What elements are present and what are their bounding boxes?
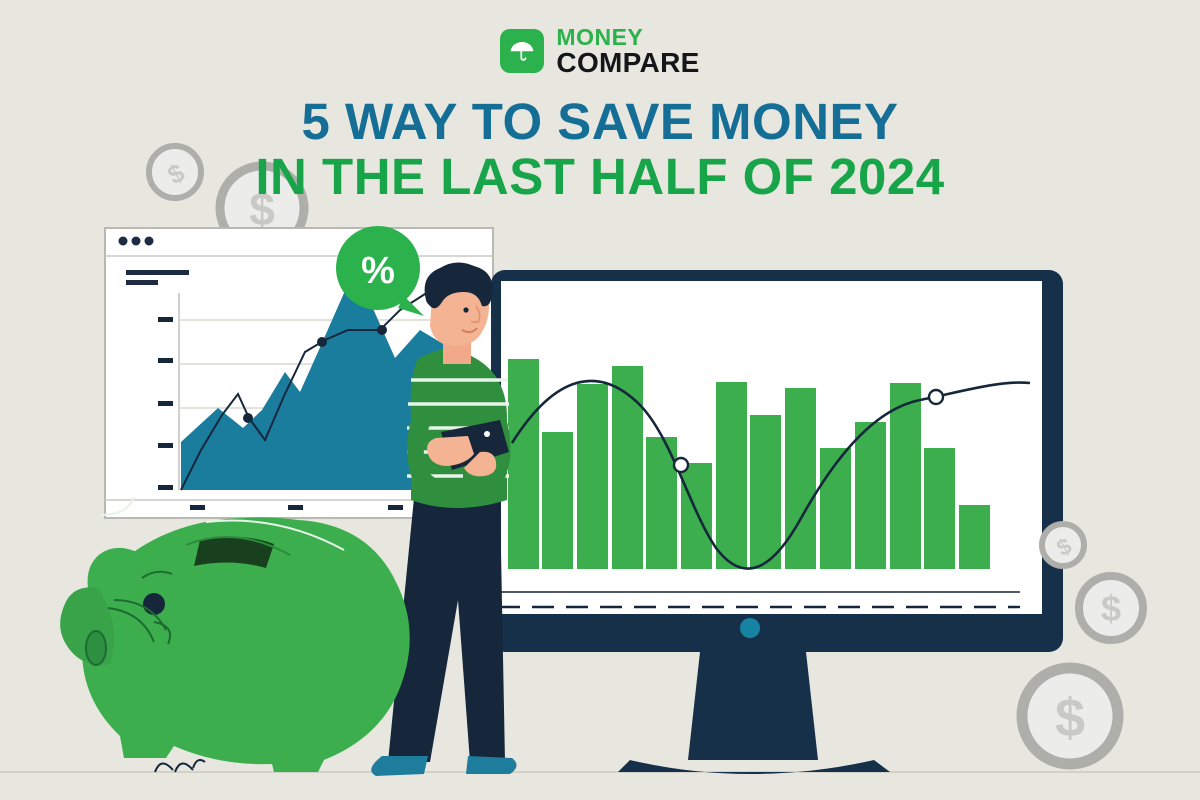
bar-9 [785,388,816,569]
bar-2 [542,432,573,569]
coin-xlarge-right: $ [1022,668,1118,764]
bar-14 [959,505,990,569]
power-dot-icon[interactable] [740,618,760,638]
character-eye [463,307,468,312]
svg-text:$: $ [1055,688,1085,748]
brand-logo[interactable]: MONEY COMPARE [0,26,1200,76]
wave-marker-2 [929,390,943,404]
placeholder-title-bar [126,270,189,275]
bar-6 [681,463,712,569]
headline: 5 WAY TO SAVE MONEY IN THE LAST HALF OF … [0,96,1200,203]
bar-1 [508,359,539,569]
bar-13 [924,448,955,569]
logo-money-text: MONEY [556,26,699,49]
bar-7 [716,382,747,569]
bar-3 [577,384,608,569]
coin-medium-right: $ [1079,576,1143,640]
bar-11 [855,422,886,569]
umbrella-icon [500,29,544,73]
logo-compare-text: COMPARE [556,49,699,76]
bubble-percent-label: % [361,250,395,292]
bar-12 [890,383,921,569]
line-marker-2 [317,337,327,347]
bar-8 [750,415,781,569]
wave-marker-1 [674,458,688,472]
line-marker-3 [377,325,387,335]
headline-line-2: IN THE LAST HALF OF 2024 [0,151,1200,203]
headline-line-1: 5 WAY TO SAVE MONEY [0,96,1200,148]
character-shoe-right [466,756,517,774]
coin-small-right: $ [1042,524,1084,566]
tablet-camera-icon [484,431,490,437]
illustration-canvas: $ $ [0,0,1200,800]
window-dot-2[interactable] [132,237,141,246]
bar-4 [612,366,643,569]
placeholder-subtitle-bar [126,280,158,285]
line-marker-1 [243,413,253,423]
window-dot-1[interactable] [119,237,128,246]
piggy-eye [143,593,165,615]
window-dot-3[interactable] [145,237,154,246]
piggy-nostril [86,631,106,665]
monitor-neck [688,652,818,760]
svg-text:$: $ [1101,588,1121,629]
character-shoe-left [371,756,428,776]
